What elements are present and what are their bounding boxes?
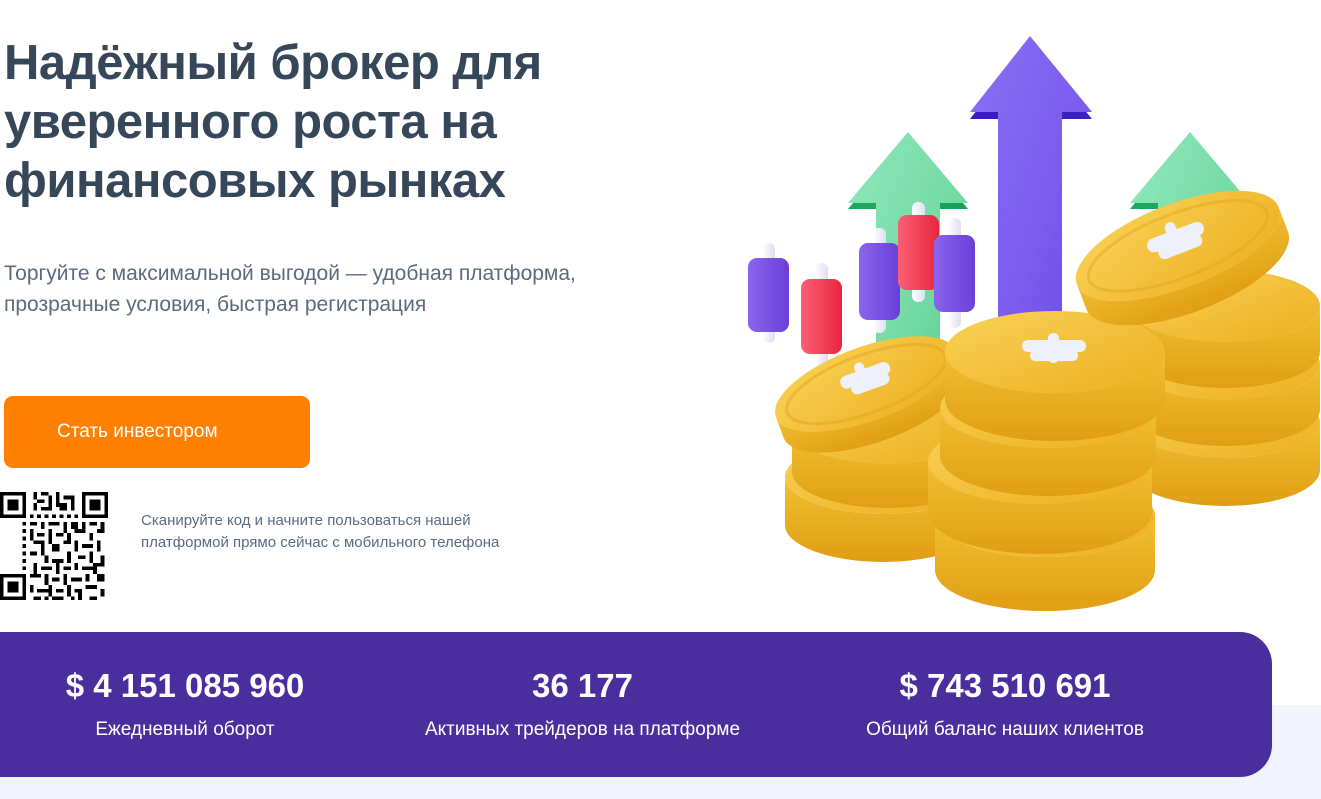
stats-card: $ 4 151 085 960 Ежедневный оборот 36 177… — [0, 632, 1272, 777]
candlestick-3-icon — [859, 228, 900, 333]
hero-page: Надёжный брокер для уверенного роста на … — [0, 0, 1321, 799]
background-plate-right — [1272, 705, 1321, 799]
stat-daily-turnover: $ 4 151 085 960 Ежедневный оборот — [0, 666, 370, 743]
hero-illustration — [730, 0, 1321, 640]
stat-label: Общий баланс наших клиентов — [795, 717, 1215, 743]
coin-stack-center — [928, 311, 1165, 611]
stat-active-traders: 36 177 Активных трейдеров на платформе — [370, 666, 795, 743]
hero-subtitle: Торгуйте с максимальной выгодой — удобна… — [4, 258, 604, 320]
stat-label: Активных трейдеров на платформе — [370, 717, 795, 743]
candlestick-2-icon — [801, 263, 842, 369]
stat-label: Ежедневный оборот — [0, 717, 370, 743]
stat-value: 36 177 — [370, 666, 795, 706]
candlestick-4-icon — [898, 202, 939, 302]
stat-value: $ 743 510 691 — [795, 666, 1215, 706]
qr-caption: Сканируйте код и начните пользоваться на… — [141, 510, 511, 554]
stat-value: $ 4 151 085 960 — [0, 666, 370, 706]
candlestick-5-icon — [934, 218, 975, 328]
page-title: Надёжный брокер для уверенного роста на … — [4, 34, 664, 211]
become-investor-button[interactable]: Стать инвестором — [4, 396, 310, 468]
candlestick-1-icon — [748, 243, 789, 343]
stat-total-balance: $ 743 510 691 Общий баланс наших клиенто… — [795, 666, 1215, 743]
qr-section: Сканируйте код и начните пользоваться на… — [0, 492, 511, 600]
qr-code-icon[interactable] — [0, 492, 108, 600]
